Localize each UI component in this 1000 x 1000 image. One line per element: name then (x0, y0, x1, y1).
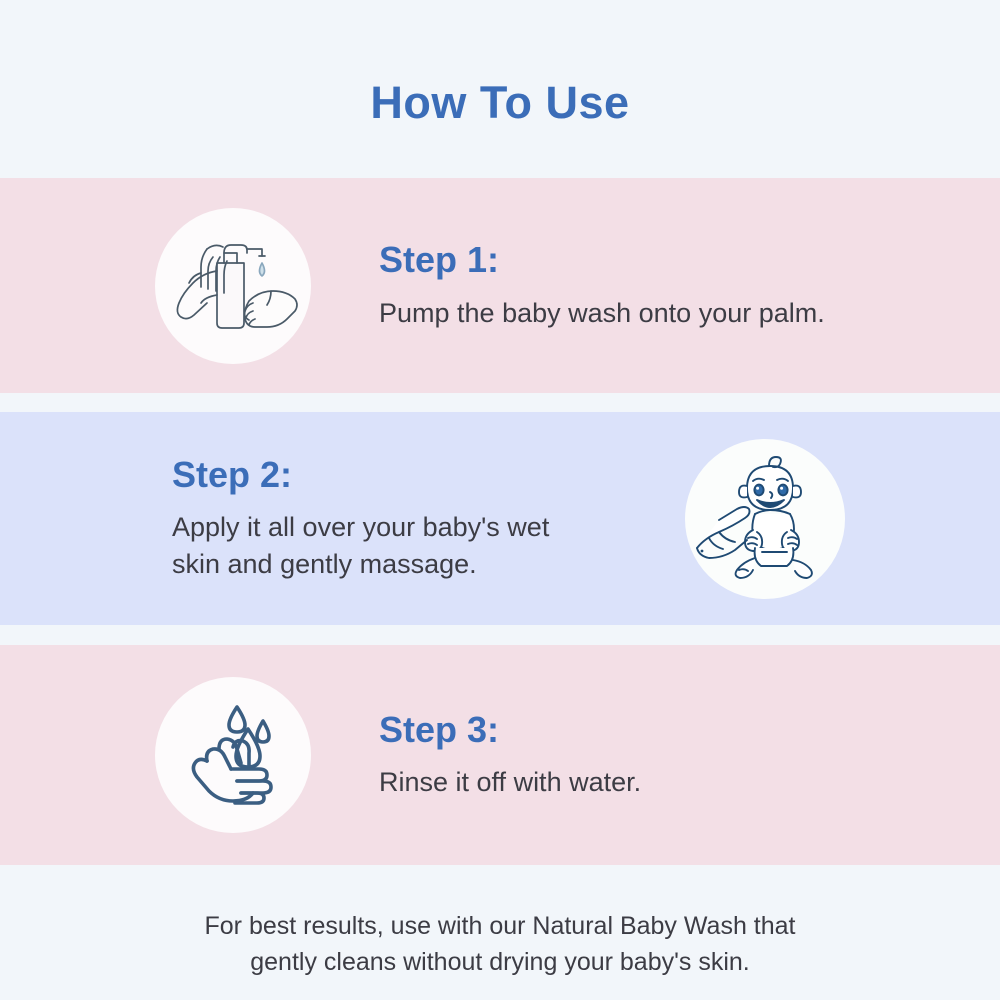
footer-line-2: gently cleans without drying your baby's… (250, 945, 749, 981)
footer-line-1: For best results, use with our Natural B… (205, 909, 796, 945)
step-3-band: Step 3: Rinse it off with water. (0, 645, 1000, 865)
title-section: How To Use (0, 0, 1000, 178)
step-1-body: Pump the baby wash onto your palm. (379, 295, 825, 332)
step-3-text: Step 3: Rinse it off with water. (379, 709, 641, 802)
step-2-body-line-1: Apply it all over your baby's wet (172, 509, 675, 546)
step-2-inner: Step 2: Apply it all over your baby's we… (0, 439, 1000, 599)
step-2-band: Step 2: Apply it all over your baby's we… (0, 412, 1000, 625)
step-1-text: Step 1: Pump the baby wash onto your pal… (379, 239, 825, 332)
washing-hands-water-drops-icon (175, 699, 291, 811)
baby-massage-icon (695, 452, 835, 586)
step-3-heading: Step 3: (379, 709, 641, 750)
step-1-band: Step 1: Pump the baby wash onto your pal… (0, 178, 1000, 393)
step-3-body: Rinse it off with water. (379, 764, 641, 801)
step-1-image-circle (155, 208, 311, 364)
step-2-image-circle (685, 439, 845, 599)
step-1-inner: Step 1: Pump the baby wash onto your pal… (0, 208, 825, 364)
step-2-text: Step 2: Apply it all over your baby's we… (172, 454, 675, 584)
hand-pumping-bottle-icon (167, 227, 299, 345)
page-title: How To Use (370, 49, 629, 129)
step-2-body-line-2: skin and gently massage. (172, 546, 675, 583)
step-1-heading: Step 1: (379, 239, 825, 280)
step-3-inner: Step 3: Rinse it off with water. (0, 677, 641, 833)
step-3-image-circle (155, 677, 311, 833)
step-2-heading: Step 2: (172, 454, 675, 495)
footer-section: For best results, use with our Natural B… (0, 865, 1000, 1000)
